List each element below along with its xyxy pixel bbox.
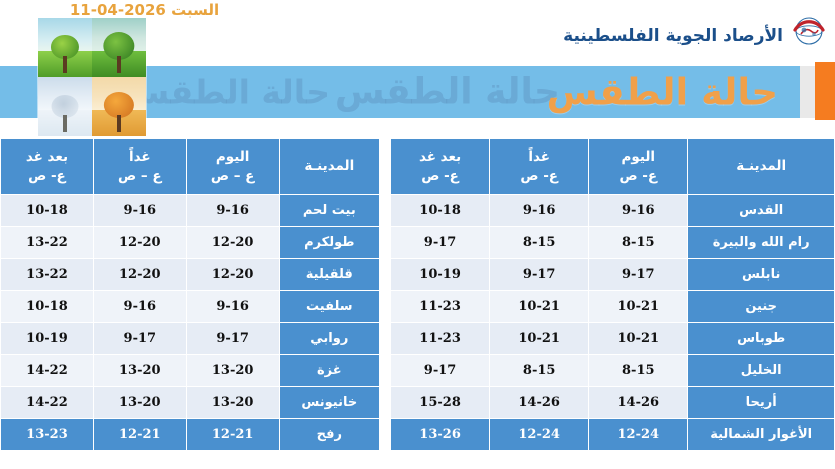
cell-city: القدس xyxy=(688,195,835,227)
header-today-line1: اليوم xyxy=(589,148,687,166)
cell-day-after: 11-23 xyxy=(391,323,490,355)
header-day-after: بعد غد ع- ص xyxy=(391,139,490,195)
forecast-table-left: المدينـة اليوم ع – ص غداً ع – ص بعد غد ع… xyxy=(0,138,380,451)
header-tomorrow-line1: غداً xyxy=(490,148,588,166)
cell-tomorrow: 8-15 xyxy=(490,355,589,387)
cell-tomorrow: 10-21 xyxy=(490,323,589,355)
table-row: جنين10-2110-2111-23 xyxy=(391,291,835,323)
table-row: طولكرم12-2012-2013-22 xyxy=(1,227,380,259)
cell-city: قلقيلية xyxy=(279,259,379,291)
organization-title: الأرصاد الجوية الفلسطينية xyxy=(563,26,783,46)
cell-tomorrow: 12-21 xyxy=(93,419,186,451)
table-row: بيت لحم9-169-1610-18 xyxy=(1,195,380,227)
cell-tomorrow: 9-16 xyxy=(93,291,186,323)
cell-city: خانيونس xyxy=(279,387,379,419)
header-today: اليوم ع – ص xyxy=(186,139,279,195)
header-today-line2: ع- ص xyxy=(589,167,687,185)
cell-tomorrow: 9-16 xyxy=(490,195,589,227)
weather-forecast-screen: السبت 2026-04-11 الأرصاد الجوية الفلسطين… xyxy=(0,0,835,469)
cell-today: 12-20 xyxy=(186,227,279,259)
cell-city: الخليل xyxy=(688,355,835,387)
header-tomorrow-line1: غداً xyxy=(94,148,186,166)
header-today-line2: ع – ص xyxy=(187,167,279,185)
season-winter xyxy=(38,77,92,136)
table-row: قلقيلية12-2012-2013-22 xyxy=(1,259,380,291)
cell-day-after: 15-28 xyxy=(391,387,490,419)
cell-tomorrow: 9-16 xyxy=(93,195,186,227)
cell-today: 9-16 xyxy=(589,195,688,227)
cell-today: 12-20 xyxy=(186,259,279,291)
header-day-after-line2: ع- ص xyxy=(391,167,489,185)
banner-gap xyxy=(800,66,815,118)
season-summer xyxy=(38,18,92,77)
cell-day-after: 10-19 xyxy=(1,323,94,355)
header-day-after: بعد غد ع- ص xyxy=(1,139,94,195)
table-row: أريحا14-2614-2615-28 xyxy=(391,387,835,419)
table-header-row: المدينـة اليوم ع – ص غداً ع – ص بعد غد ع… xyxy=(1,139,380,195)
cell-city: أريحا xyxy=(688,387,835,419)
header-tomorrow-line2: ع – ص xyxy=(94,167,186,185)
cell-day-after: 14-22 xyxy=(1,387,94,419)
forecast-date: السبت 2026-04-11 xyxy=(42,1,247,19)
cell-today: 12-24 xyxy=(589,419,688,451)
header-today-line1: اليوم xyxy=(187,148,279,166)
cell-today: 10-21 xyxy=(589,323,688,355)
table-row: غزة13-2013-2014-22 xyxy=(1,355,380,387)
cell-tomorrow: 14-26 xyxy=(490,387,589,419)
cell-tomorrow: 10-21 xyxy=(490,291,589,323)
cell-day-after: 10-18 xyxy=(1,291,94,323)
forecast-tables: المدينـة اليوم ع- ص غداً ع- ص بعد غد ع- … xyxy=(0,138,835,469)
table-header-row: المدينـة اليوم ع- ص غداً ع- ص بعد غد ع- … xyxy=(391,139,835,195)
header-day-after-line1: بعد غد xyxy=(1,148,93,166)
cell-day-after: 9-17 xyxy=(391,227,490,259)
cell-city: طولكرم xyxy=(279,227,379,259)
cell-tomorrow: 12-24 xyxy=(490,419,589,451)
table-row: خانيونس13-2013-2014-22 xyxy=(1,387,380,419)
cell-tomorrow: 9-17 xyxy=(490,259,589,291)
cell-city: رفح xyxy=(279,419,379,451)
banner-ghost-text-2: حالة الطقس xyxy=(124,73,330,112)
cell-tomorrow: 12-20 xyxy=(93,227,186,259)
season-autumn xyxy=(92,77,146,136)
cell-today: 8-15 xyxy=(589,227,688,259)
table-row: رفح12-2112-2113-23 xyxy=(1,419,380,451)
cell-city: الأغوار الشمالية xyxy=(688,419,835,451)
cell-city: روابي xyxy=(279,323,379,355)
header-tomorrow: غداً ع – ص xyxy=(93,139,186,195)
table-row: طوباس10-2110-2111-23 xyxy=(391,323,835,355)
cell-tomorrow: 9-17 xyxy=(93,323,186,355)
cell-tomorrow: 8-15 xyxy=(490,227,589,259)
header-day-after-line2: ع- ص xyxy=(1,167,93,185)
cell-today: 13-20 xyxy=(186,387,279,419)
cell-city: نابلس xyxy=(688,259,835,291)
table-row: الأغوار الشمالية12-2412-2413-26 xyxy=(391,419,835,451)
cell-day-after: 13-22 xyxy=(1,259,94,291)
table-row: رام الله والبيرة8-158-159-17 xyxy=(391,227,835,259)
cell-day-after: 10-18 xyxy=(1,195,94,227)
cell-day-after: 10-18 xyxy=(391,195,490,227)
cell-city: غزة xyxy=(279,355,379,387)
table-row: سلفيت9-169-1610-18 xyxy=(1,291,380,323)
header-tomorrow: غداً ع- ص xyxy=(490,139,589,195)
cell-city: بيت لحم xyxy=(279,195,379,227)
cell-today: 9-17 xyxy=(589,259,688,291)
cell-today: 9-16 xyxy=(186,291,279,323)
table-row: الخليل8-158-159-17 xyxy=(391,355,835,387)
banner-ghost-text-1: حالة الطقس xyxy=(335,72,560,113)
cell-day-after: 14-22 xyxy=(1,355,94,387)
meteorology-globe-logo-icon xyxy=(789,10,829,50)
cell-city: سلفيت xyxy=(279,291,379,323)
header-tomorrow-line2: ع- ص xyxy=(490,167,588,185)
header-city: المدينـة xyxy=(688,139,835,195)
cell-tomorrow: 13-20 xyxy=(93,355,186,387)
cell-today: 14-26 xyxy=(589,387,688,419)
cell-today: 10-21 xyxy=(589,291,688,323)
cell-today: 9-17 xyxy=(186,323,279,355)
cell-city: طوباس xyxy=(688,323,835,355)
cell-day-after: 13-23 xyxy=(1,419,94,451)
season-spring xyxy=(92,18,146,77)
cell-day-after: 10-19 xyxy=(391,259,490,291)
cell-day-after: 13-26 xyxy=(391,419,490,451)
banner-orange-accent xyxy=(815,62,835,120)
table-row: روابي9-179-1710-19 xyxy=(1,323,380,355)
cell-city: جنين xyxy=(688,291,835,323)
cell-day-after: 13-22 xyxy=(1,227,94,259)
cell-today: 9-16 xyxy=(186,195,279,227)
cell-today: 13-20 xyxy=(186,355,279,387)
cell-city: رام الله والبيرة xyxy=(688,227,835,259)
four-seasons-image xyxy=(38,18,146,136)
cell-today: 8-15 xyxy=(589,355,688,387)
cell-tomorrow: 13-20 xyxy=(93,387,186,419)
forecast-table-right: المدينـة اليوم ع- ص غداً ع- ص بعد غد ع- … xyxy=(390,138,835,451)
cell-tomorrow: 12-20 xyxy=(93,259,186,291)
header-today: اليوم ع- ص xyxy=(589,139,688,195)
cell-day-after: 9-17 xyxy=(391,355,490,387)
cell-today: 12-21 xyxy=(186,419,279,451)
banner-title: حالة الطقس xyxy=(547,71,778,114)
table-row: نابلس9-179-1710-19 xyxy=(391,259,835,291)
header-city: المدينـة xyxy=(279,139,379,195)
table-row: القدس9-169-1610-18 xyxy=(391,195,835,227)
header-day-after-line1: بعد غد xyxy=(391,148,489,166)
cell-day-after: 11-23 xyxy=(391,291,490,323)
